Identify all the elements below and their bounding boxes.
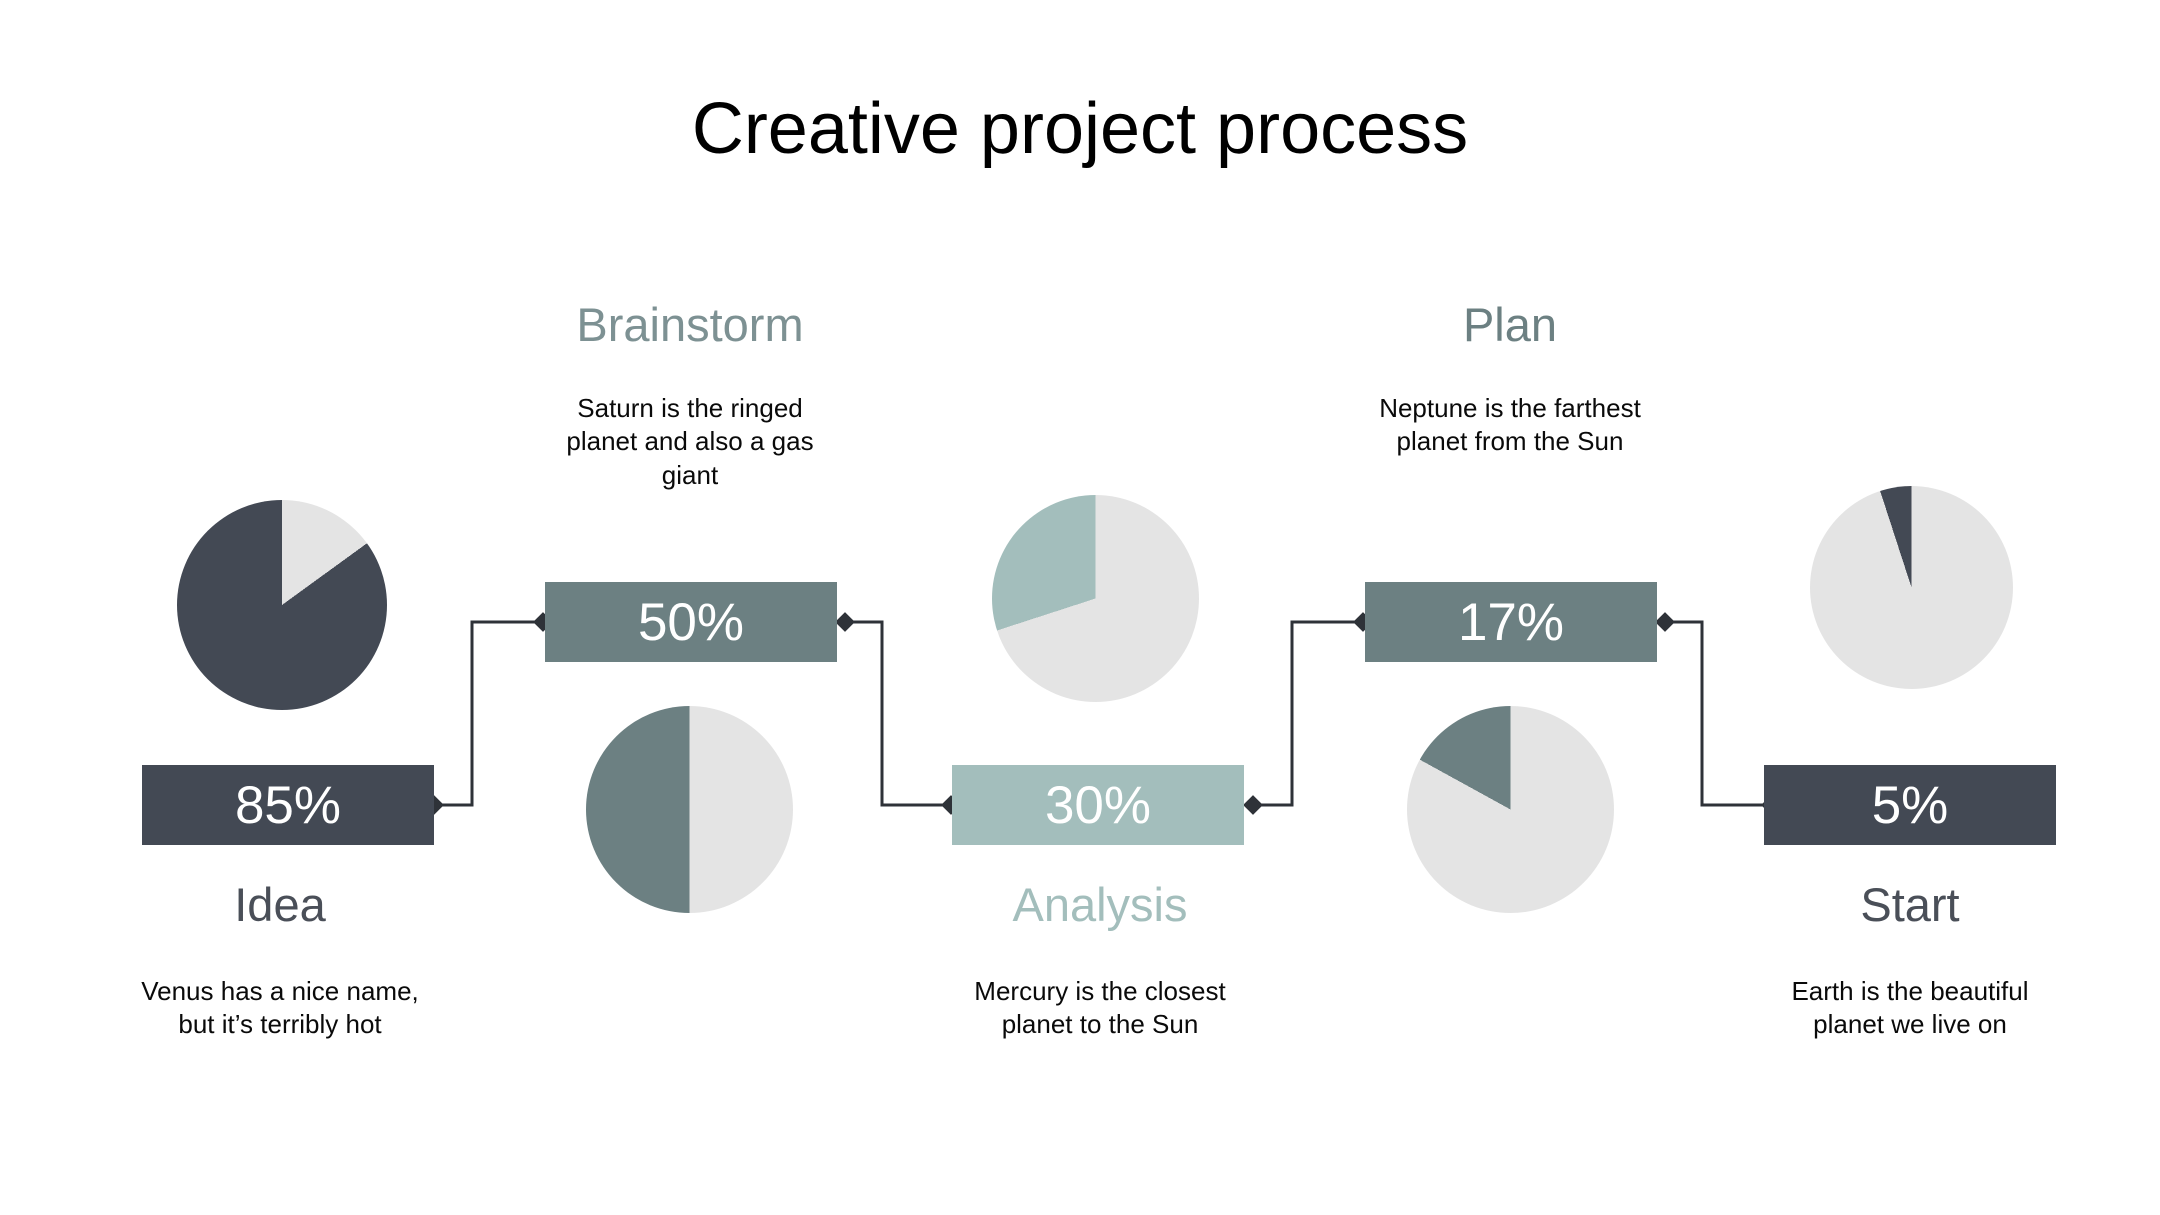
step-label-start: Start <box>1700 880 2120 929</box>
pie-analysis <box>992 495 1199 702</box>
step-description-idea: Venus has a nice name, but it’s terribly… <box>130 975 430 1042</box>
step-label-idea: Idea <box>70 880 490 929</box>
step-description-plan: Neptune is the farthest planet from the … <box>1348 392 1672 459</box>
connector-idea-brainstorm <box>424 612 553 815</box>
pie-start <box>1810 486 2013 689</box>
step-label-brainstorm: Brainstorm <box>480 300 900 349</box>
bar-idea[interactable]: 85% <box>142 765 434 845</box>
pie-plan <box>1407 706 1614 913</box>
connector-brainstorm-analysis <box>835 612 961 815</box>
step-label-plan: Plan <box>1300 300 1720 349</box>
bar-percent-start: 5% <box>1872 779 1949 832</box>
page-title: Creative project process <box>0 88 2160 170</box>
step-description-analysis: Mercury is the closest planet to the Sun <box>950 975 1250 1042</box>
slide-canvas: Creative project process <box>0 0 2160 1215</box>
bar-start[interactable]: 5% <box>1764 765 2056 845</box>
bar-analysis[interactable]: 30% <box>952 765 1244 845</box>
step-label-analysis: Analysis <box>890 880 1310 929</box>
bar-percent-analysis: 30% <box>1045 779 1151 832</box>
pie-brainstorm <box>586 706 793 913</box>
bar-percent-idea: 85% <box>235 779 341 832</box>
connector-plan-start <box>1655 612 1781 815</box>
bar-plan[interactable]: 17% <box>1365 582 1657 662</box>
connector-analysis-plan <box>1243 612 1373 815</box>
bar-percent-plan: 17% <box>1458 596 1564 649</box>
bar-brainstorm[interactable]: 50% <box>545 582 837 662</box>
bar-percent-brainstorm: 50% <box>638 596 744 649</box>
step-description-start: Earth is the beautiful planet we live on <box>1755 975 2065 1042</box>
step-description-brainstorm: Saturn is the ringed planet and also a g… <box>540 392 840 492</box>
pie-idea <box>177 500 387 710</box>
